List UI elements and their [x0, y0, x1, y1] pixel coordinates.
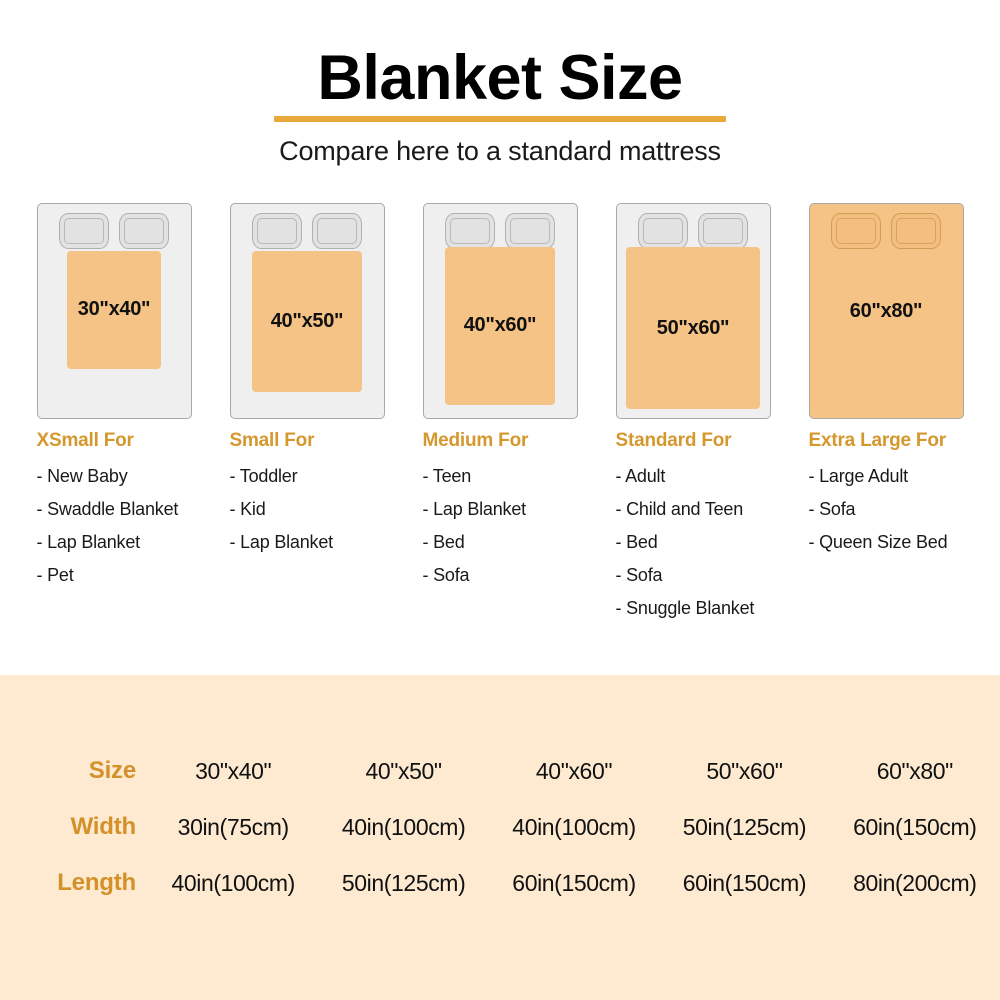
spec-table-row: Size30"x40"40"x50"40"x60"50"x60"60"x80": [0, 757, 1000, 785]
usecase-item: - Queen Size Bed: [809, 532, 964, 553]
spec-table-cell: 80in(200cm): [830, 870, 1000, 897]
pillow-icon: [505, 213, 555, 249]
blanket-size-label: 50"x60": [657, 317, 729, 340]
pillow-icon: [698, 213, 748, 249]
spec-row-label: Size: [0, 757, 148, 785]
blanket-size-label: 60"x80": [850, 300, 922, 323]
usecase-heading: Small For: [230, 430, 385, 452]
spec-table-cell: 50in(125cm): [659, 814, 829, 841]
pillow-group: [617, 213, 770, 249]
spec-table-cell: 60"x80": [830, 758, 1000, 785]
pillow-icon: [638, 213, 688, 249]
pillow-icon: [119, 213, 169, 249]
spec-table-cell: 40"x50": [318, 758, 488, 785]
bed-diagram: 30"x40": [37, 203, 192, 419]
spec-table-cell: 40"x60": [489, 758, 659, 785]
spec-table-cell: 60in(150cm): [489, 870, 659, 897]
blanket-overlay: 40"x50": [252, 251, 362, 392]
usecase-heading: Extra Large For: [809, 430, 964, 452]
usecase-item: - Sofa: [423, 565, 578, 586]
blanket-overlay: 30"x40": [67, 251, 160, 369]
blanket-overlay: 60"x80": [810, 204, 963, 418]
spec-table-cell: 50in(125cm): [318, 870, 488, 897]
pillow-group: [424, 213, 577, 249]
usecase-item: - Large Adult: [809, 466, 964, 487]
page-title: Blanket Size: [0, 46, 1000, 110]
spec-table-cell: 50"x60": [659, 758, 829, 785]
usecase-column: Small For- Toddler- Kid- Lap Blanket: [230, 430, 385, 631]
blanket-overlay: 40"x60": [445, 247, 555, 405]
spec-table-cell: 30"x40": [148, 758, 318, 785]
spec-table-row: Width30in(75cm)40in(100cm)40in(100cm)50i…: [0, 813, 1000, 841]
usecase-item: - Child and Teen: [616, 499, 771, 520]
usecase-item: - Lap Blanket: [423, 499, 578, 520]
blanket-size-label: 40"x50": [271, 310, 343, 333]
usecase-columns-row: XSmall For- New Baby- Swaddle Blanket- L…: [0, 430, 1000, 631]
title-underline-rule: [274, 116, 726, 122]
usecase-heading: Standard For: [616, 430, 771, 452]
usecase-item: - Kid: [230, 499, 385, 520]
usecase-item: - Bed: [423, 532, 578, 553]
spec-table-cell: 40in(100cm): [489, 814, 659, 841]
spec-table-cell: 40in(100cm): [318, 814, 488, 841]
pillow-group: [231, 213, 384, 249]
usecase-item: - Pet: [37, 565, 192, 586]
blanket-size-label: 30"x40": [78, 298, 150, 321]
usecase-heading: Medium For: [423, 430, 578, 452]
usecase-column: XSmall For- New Baby- Swaddle Blanket- L…: [37, 430, 192, 631]
spec-table-cell: 60in(150cm): [659, 870, 829, 897]
usecase-item: - Sofa: [616, 565, 771, 586]
usecase-item: - Snuggle Blanket: [616, 598, 771, 619]
usecase-heading: XSmall For: [37, 430, 192, 452]
spec-table-cell: 60in(150cm): [830, 814, 1000, 841]
bed-diagram: 40"x50": [230, 203, 385, 419]
page-subtitle: Compare here to a standard mattress: [0, 136, 1000, 167]
usecase-item: - New Baby: [37, 466, 192, 487]
usecase-column: Medium For- Teen- Lap Blanket- Bed- Sofa: [423, 430, 578, 631]
spec-table-grid: Size30"x40"40"x50"40"x60"50"x60"60"x80"W…: [0, 757, 1000, 897]
usecase-item: - Swaddle Blanket: [37, 499, 192, 520]
pillow-icon: [252, 213, 302, 249]
usecase-item: - Adult: [616, 466, 771, 487]
usecase-item: - Lap Blanket: [230, 532, 385, 553]
usecase-column: Standard For- Adult- Child and Teen- Bed…: [616, 430, 771, 631]
usecase-item: - Bed: [616, 532, 771, 553]
spec-row-label: Length: [0, 869, 148, 897]
blanket-size-label: 40"x60": [464, 314, 536, 337]
spec-table-cell: 30in(75cm): [148, 814, 318, 841]
bed-diagram: 40"x60": [423, 203, 578, 419]
pillow-icon: [312, 213, 362, 249]
pillow-icon: [59, 213, 109, 249]
usecase-item: - Teen: [423, 466, 578, 487]
bed-diagram: 50"x60": [616, 203, 771, 419]
usecase-column: Extra Large For- Large Adult- Sofa- Quee…: [809, 430, 964, 631]
header: Blanket Size Compare here to a standard …: [0, 0, 1000, 167]
bed-diagram: 60"x80": [809, 203, 964, 419]
pillow-group: [38, 213, 191, 249]
usecase-item: - Toddler: [230, 466, 385, 487]
bed-diagram-row: 30"x40"40"x50"40"x60"50"x60"60"x80": [0, 203, 1000, 419]
pillow-icon: [445, 213, 495, 249]
spec-table-panel: Size30"x40"40"x50"40"x60"50"x60"60"x80"W…: [0, 675, 1000, 1000]
usecase-item: - Lap Blanket: [37, 532, 192, 553]
usecase-item: - Sofa: [809, 499, 964, 520]
spec-row-label: Width: [0, 813, 148, 841]
blanket-overlay: 50"x60": [626, 247, 759, 410]
spec-table-cell: 40in(100cm): [148, 870, 318, 897]
spec-table-row: Length40in(100cm)50in(125cm)60in(150cm)6…: [0, 869, 1000, 897]
